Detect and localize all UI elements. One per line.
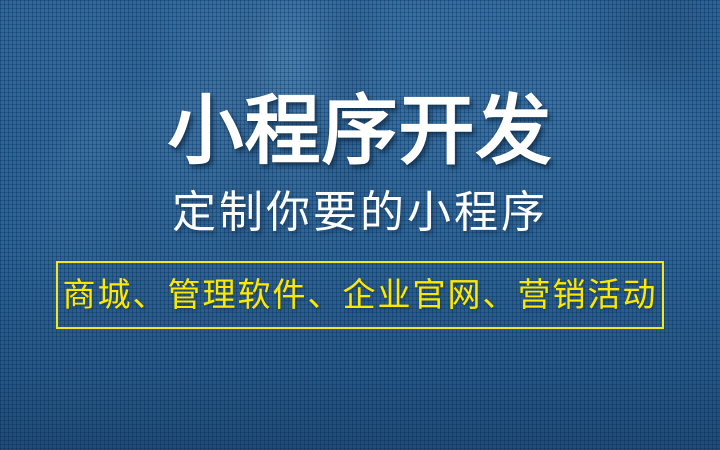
tagline-box: 商城、管理软件、企业官网、营销活动 — [56, 261, 664, 329]
banner-title: 小程序开发 — [0, 92, 720, 172]
promo-banner: 小程序开发 定制你要的小程序 商城、管理软件、企业官网、营销活动 — [0, 0, 720, 450]
tagline-text: 商城、管理软件、企业官网、营销活动 — [63, 275, 658, 315]
banner-content: 小程序开发 定制你要的小程序 商城、管理软件、企业官网、营销活动 — [0, 0, 720, 450]
banner-subtitle: 定制你要的小程序 — [0, 188, 720, 238]
